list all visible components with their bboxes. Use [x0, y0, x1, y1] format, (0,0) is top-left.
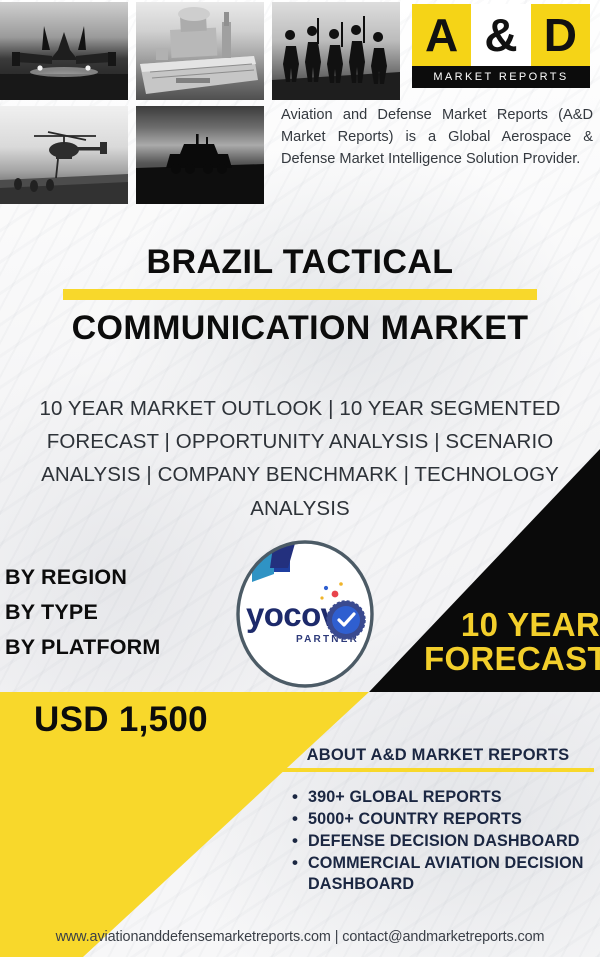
ad-market-reports-logo: A & D MARKET REPORTS: [412, 4, 590, 88]
about-item-country-reports: 5000+ COUNTRY REPORTS: [308, 809, 594, 830]
warship-photo: [136, 2, 264, 100]
forecast-line-1: 10 YEAR: [424, 608, 600, 642]
segment-item-type: BY TYPE: [5, 595, 235, 630]
about-item-defense-dashboard: DEFENSE DECISION DASHBOARD: [308, 831, 594, 852]
about-heading: ABOUT A&D MARKET REPORTS: [282, 746, 594, 768]
title-underline-bar: [63, 289, 537, 300]
forecast-line-2: FORECAST: [424, 642, 600, 676]
fighter-jet-photo: [0, 2, 128, 100]
armored-vehicle-photo: [136, 106, 264, 204]
logo-ampersand: &: [471, 4, 530, 66]
helicopter-photo: [0, 106, 128, 204]
yocova-partner-badge: yocova PARTNER: [230, 538, 380, 690]
logo-letter-d: D: [531, 4, 590, 66]
about-bullet-list: 390+ GLOBAL REPORTS 5000+ COUNTRY REPORT…: [282, 787, 594, 895]
forecast-callout: 10 YEAR FORECAST: [424, 608, 600, 675]
segment-item-platform: BY PLATFORM: [5, 630, 235, 665]
about-item-commercial-dashboard: COMMERCIAL AVIATION DECISION DASHBOARD: [308, 853, 594, 895]
poster-root: A & D MARKET REPORTS Aviation and Defens…: [0, 0, 600, 957]
about-section: ABOUT A&D MARKET REPORTS 390+ GLOBAL REP…: [282, 746, 594, 896]
company-intro-text: Aviation and Defense Market Reports (A&D…: [281, 104, 593, 171]
segment-item-region: BY REGION: [5, 560, 235, 595]
page-title: BRAZIL TACTICAL COMMUNICATION MARKET: [0, 244, 600, 346]
subtitle-text: 10 YEAR MARKET OUTLOOK | 10 YEAR SEGMENT…: [26, 392, 574, 525]
verified-seal-icon: [327, 601, 365, 639]
about-item-global-reports: 390+ GLOBAL REPORTS: [308, 787, 594, 808]
segmentation-list: BY REGION BY TYPE BY PLATFORM: [5, 560, 235, 664]
title-line-1: BRAZIL TACTICAL: [0, 244, 600, 280]
title-line-2: COMMUNICATION MARKET: [0, 310, 600, 346]
soldiers-photo: [272, 2, 400, 100]
logo-letter-blocks: A & D: [412, 4, 590, 66]
logo-letter-a: A: [412, 4, 471, 66]
footer-contact: www.aviationanddefensemarketreports.com …: [0, 929, 600, 945]
logo-tagline: MARKET REPORTS: [412, 66, 590, 88]
about-heading-underline: [282, 768, 594, 772]
price-label: USD 1,500: [34, 700, 208, 740]
